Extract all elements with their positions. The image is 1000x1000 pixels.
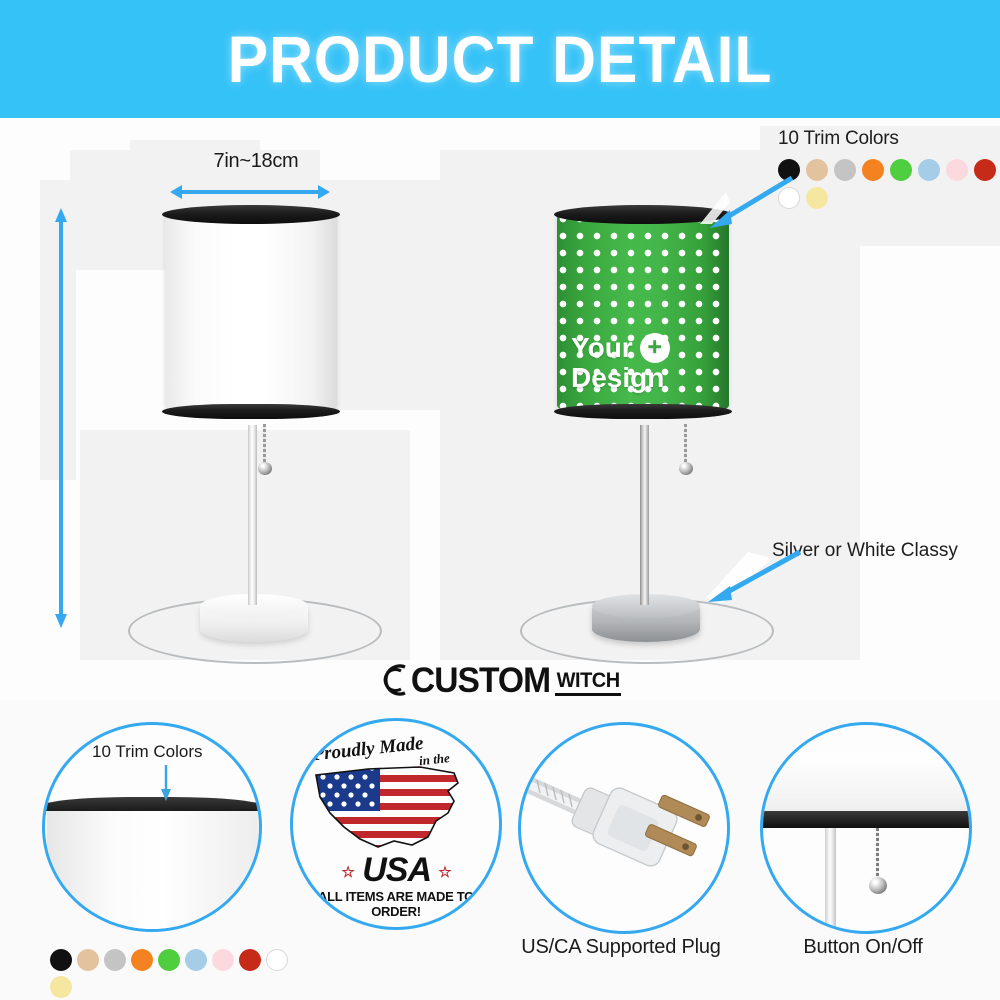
pull-chain-bulb[interactable] <box>258 462 272 475</box>
lamp-pole-closeup <box>825 828 836 934</box>
trim-color-swatch-green[interactable] <box>158 949 180 971</box>
callout-made-in-usa: Proudly Made in the <box>290 718 500 928</box>
trim-color-swatch-light-blue[interactable] <box>918 159 940 181</box>
trim-color-swatch-yellow[interactable] <box>50 976 72 998</box>
pull-chain[interactable] <box>263 424 266 466</box>
callout-circle <box>518 722 730 934</box>
trim-colors-pointer-arrow <box>700 172 800 232</box>
trim-color-swatch-gray[interactable] <box>104 949 126 971</box>
callout-circle: Proudly Made in the <box>290 718 502 930</box>
your-design-line2: Design <box>571 363 664 393</box>
callout-plug: US/CA Supported Plug <box>518 722 724 928</box>
plus-icon: + <box>640 333 670 363</box>
brand-underline <box>555 693 621 696</box>
trim-color-swatch-white[interactable] <box>266 949 288 971</box>
trim-colors-swatch-grid <box>778 159 1000 209</box>
trim-color-swatch-orange[interactable] <box>131 949 153 971</box>
trim-color-swatch-orange[interactable] <box>862 159 884 181</box>
brand-name-custom: CUSTOM <box>411 664 550 698</box>
base-finish-pointer-arrow <box>700 548 810 608</box>
trim-color-swatch-red[interactable] <box>974 159 996 181</box>
power-plug-icon <box>521 725 727 931</box>
width-dimension-arrow <box>170 185 330 197</box>
usa-badge-word: ☆ USA ☆ <box>293 851 499 890</box>
callout-plug-caption: US/CA Supported Plug <box>518 936 724 959</box>
callout-trim-colors-arrow <box>160 765 172 803</box>
trim-color-swatch-tan[interactable] <box>77 949 99 971</box>
brand-name-witch: WITCH <box>557 670 620 691</box>
usa-badge-subtitle: ALL ITEMS ARE MADE TO ORDER! <box>293 889 499 919</box>
trim-color-swatch-pink[interactable] <box>946 159 968 181</box>
your-design-line1: Your <box>571 333 633 363</box>
trim-colors-panel-top: 10 Trim Colors <box>778 128 1000 209</box>
trim-color-swatch-black[interactable] <box>50 949 72 971</box>
trim-colors-swatch-grid-bottom <box>50 949 300 998</box>
lampshade-white <box>165 205 337 415</box>
lamp-pole <box>248 425 257 605</box>
trim-color-swatch-green[interactable] <box>890 159 912 181</box>
callout-trim-colors-label: 10 Trim Colors <box>92 742 203 762</box>
lamp-green-design: Your + Design <box>0 0 172 210</box>
brand-logo: CUSTOM WITCH <box>0 662 1000 698</box>
callout-circle <box>760 722 972 934</box>
shade-trim-top <box>162 205 340 224</box>
pull-chain-bulb-closeup[interactable] <box>869 877 887 894</box>
shade-body-closeup <box>760 753 972 815</box>
shade-body-closeup <box>47 811 259 931</box>
pull-chain[interactable] <box>684 424 687 466</box>
trim-color-swatch-yellow[interactable] <box>806 187 828 209</box>
trim-colors-title: 10 Trim Colors <box>778 128 1000 150</box>
lamp-pole <box>640 425 649 605</box>
brand-c-ring-icon <box>379 662 413 698</box>
product-detail-page: PRODUCT DETAIL 20in~50cm 7in~18cm <box>0 0 1000 1000</box>
usa-map-flag-icon <box>308 761 478 853</box>
trim-color-swatch-gray[interactable] <box>834 159 856 181</box>
page-title: PRODUCT DETAIL <box>228 21 773 97</box>
trim-color-swatch-tan[interactable] <box>806 159 828 181</box>
shade-trim-bottom <box>162 404 340 419</box>
pull-chain-bulb[interactable] <box>679 462 693 475</box>
pull-chain-closeup[interactable] <box>876 828 879 880</box>
trim-color-swatch-pink[interactable] <box>212 949 234 971</box>
your-design-placeholder: Your + Design <box>571 333 670 393</box>
trim-color-swatch-red[interactable] <box>239 949 261 971</box>
shade-trim-closeup <box>760 811 972 828</box>
callout-button-caption: Button On/Off <box>760 936 966 959</box>
callout-button-on-off: Button On/Off <box>760 722 966 928</box>
lampshade-green: Your + Design <box>557 205 729 415</box>
trim-color-swatch-light-blue[interactable] <box>185 949 207 971</box>
width-dimension-label: 7in~18cm <box>186 150 326 173</box>
height-dimension-arrow <box>55 208 67 628</box>
shade-trim-bottom <box>554 404 732 419</box>
